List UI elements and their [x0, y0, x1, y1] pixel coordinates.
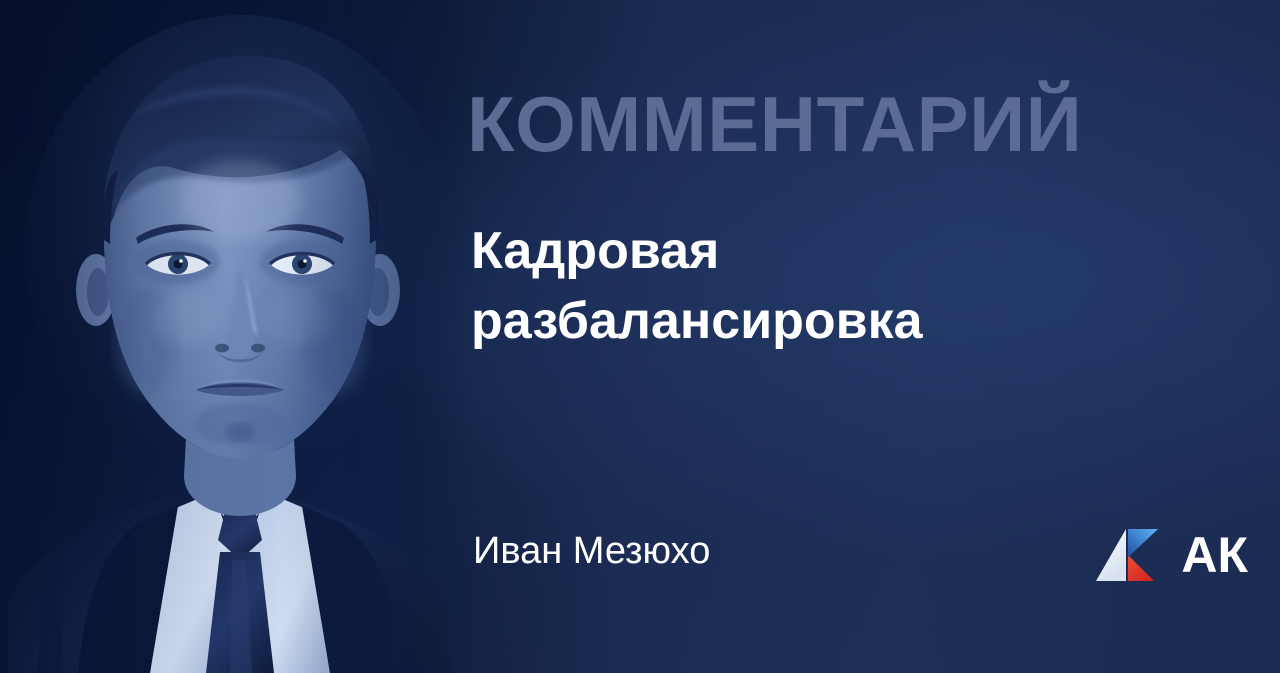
headline-line-2: разбалансировка [471, 286, 1111, 356]
comment-card: КОММЕНТАРИЙ Кадровая разбалансировка Ива… [0, 0, 1280, 673]
headline-line-1: Кадровая [471, 216, 1111, 286]
logo-wordmark: АК [1181, 529, 1248, 581]
headline: Кадровая разбалансировка [471, 216, 1111, 356]
author-byline: Иван Мезюхо [473, 528, 710, 574]
author-portrait [0, 0, 470, 673]
brand-logo[interactable]: АК [1094, 524, 1248, 586]
ak-triangle-logo-icon [1094, 527, 1168, 583]
author-portrait-image [0, 0, 470, 673]
kicker-label: КОММЕНТАРИЙ [467, 83, 1082, 165]
